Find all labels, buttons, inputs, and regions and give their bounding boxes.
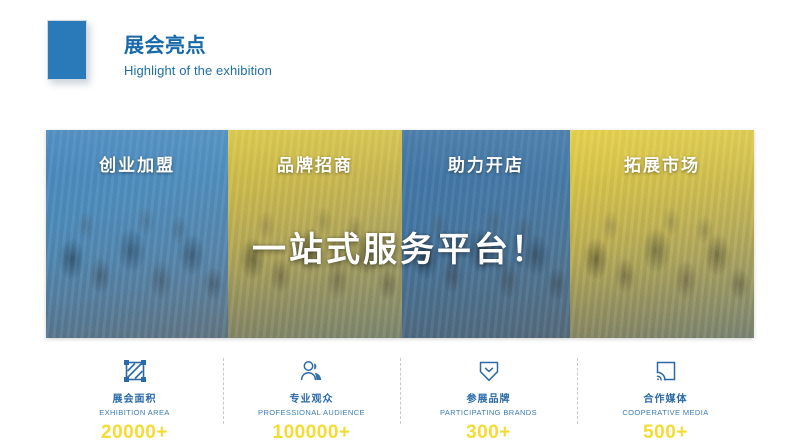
title-block: 展会亮点 Highlight of the exhibition <box>124 33 272 80</box>
banner-panel-label-2: 品牌招商 <box>228 151 401 176</box>
stats-row: 展会面积 EXHIBITION AREA 20000+ 专业观众 PROFESS… <box>46 352 754 444</box>
stat-value: 20000+ <box>101 422 168 444</box>
participating-brands-icon <box>476 356 502 386</box>
stat-label-cn: 展会面积 <box>113 390 157 405</box>
stat-item-cooperative-media: 合作媒体 COOPERATIVE MEDIA 500+ <box>577 352 754 444</box>
stat-item-professional-audience: 专业观众 PROFESSIONAL AUDIENCE 100000+ <box>223 352 400 444</box>
header-accent-bar <box>47 20 87 80</box>
stat-label-en: EXHIBITION AREA <box>99 408 170 417</box>
banner-panel-2[interactable]: 品牌招商 <box>228 130 401 338</box>
cooperative-media-icon <box>653 356 679 386</box>
stat-label-cn: 合作媒体 <box>644 390 688 405</box>
stat-label-en: PROFESSIONAL AUDIENCE <box>258 408 365 417</box>
banner-panel-label-4: 拓展市场 <box>570 151 754 176</box>
exhibition-area-icon <box>122 356 148 386</box>
stat-label-cn: 参展品牌 <box>467 390 511 405</box>
page-header: 展会亮点 Highlight of the exhibition <box>0 0 800 110</box>
stat-value: 500+ <box>643 422 688 444</box>
stat-label-en: PARTICIPATING BRANDS <box>440 408 537 417</box>
page-title: 展会亮点 <box>124 33 272 59</box>
professional-audience-icon <box>299 356 325 386</box>
banner-panel-label-3: 助力开店 <box>402 151 570 176</box>
banner-panel-1[interactable]: 创业加盟 <box>46 130 228 338</box>
banner-panel-label-1: 创业加盟 <box>46 151 228 176</box>
page-subtitle: Highlight of the exhibition <box>124 62 272 80</box>
banner-panel-4[interactable]: 拓展市场 <box>570 130 754 338</box>
stat-item-exhibition-area: 展会面积 EXHIBITION AREA 20000+ <box>46 352 223 444</box>
highlight-banner: 创业加盟 品牌招商 助力开店 拓展市场 <box>46 130 754 338</box>
banner-panel-3[interactable]: 助力开店 <box>402 130 570 338</box>
stat-label-cn: 专业观众 <box>290 390 334 405</box>
stat-label-en: COOPERATIVE MEDIA <box>622 408 708 417</box>
stat-value: 100000+ <box>273 422 351 444</box>
stat-item-participating-brands: 参展品牌 PARTICIPATING BRANDS 300+ <box>400 352 577 444</box>
stat-value: 300+ <box>466 422 511 444</box>
